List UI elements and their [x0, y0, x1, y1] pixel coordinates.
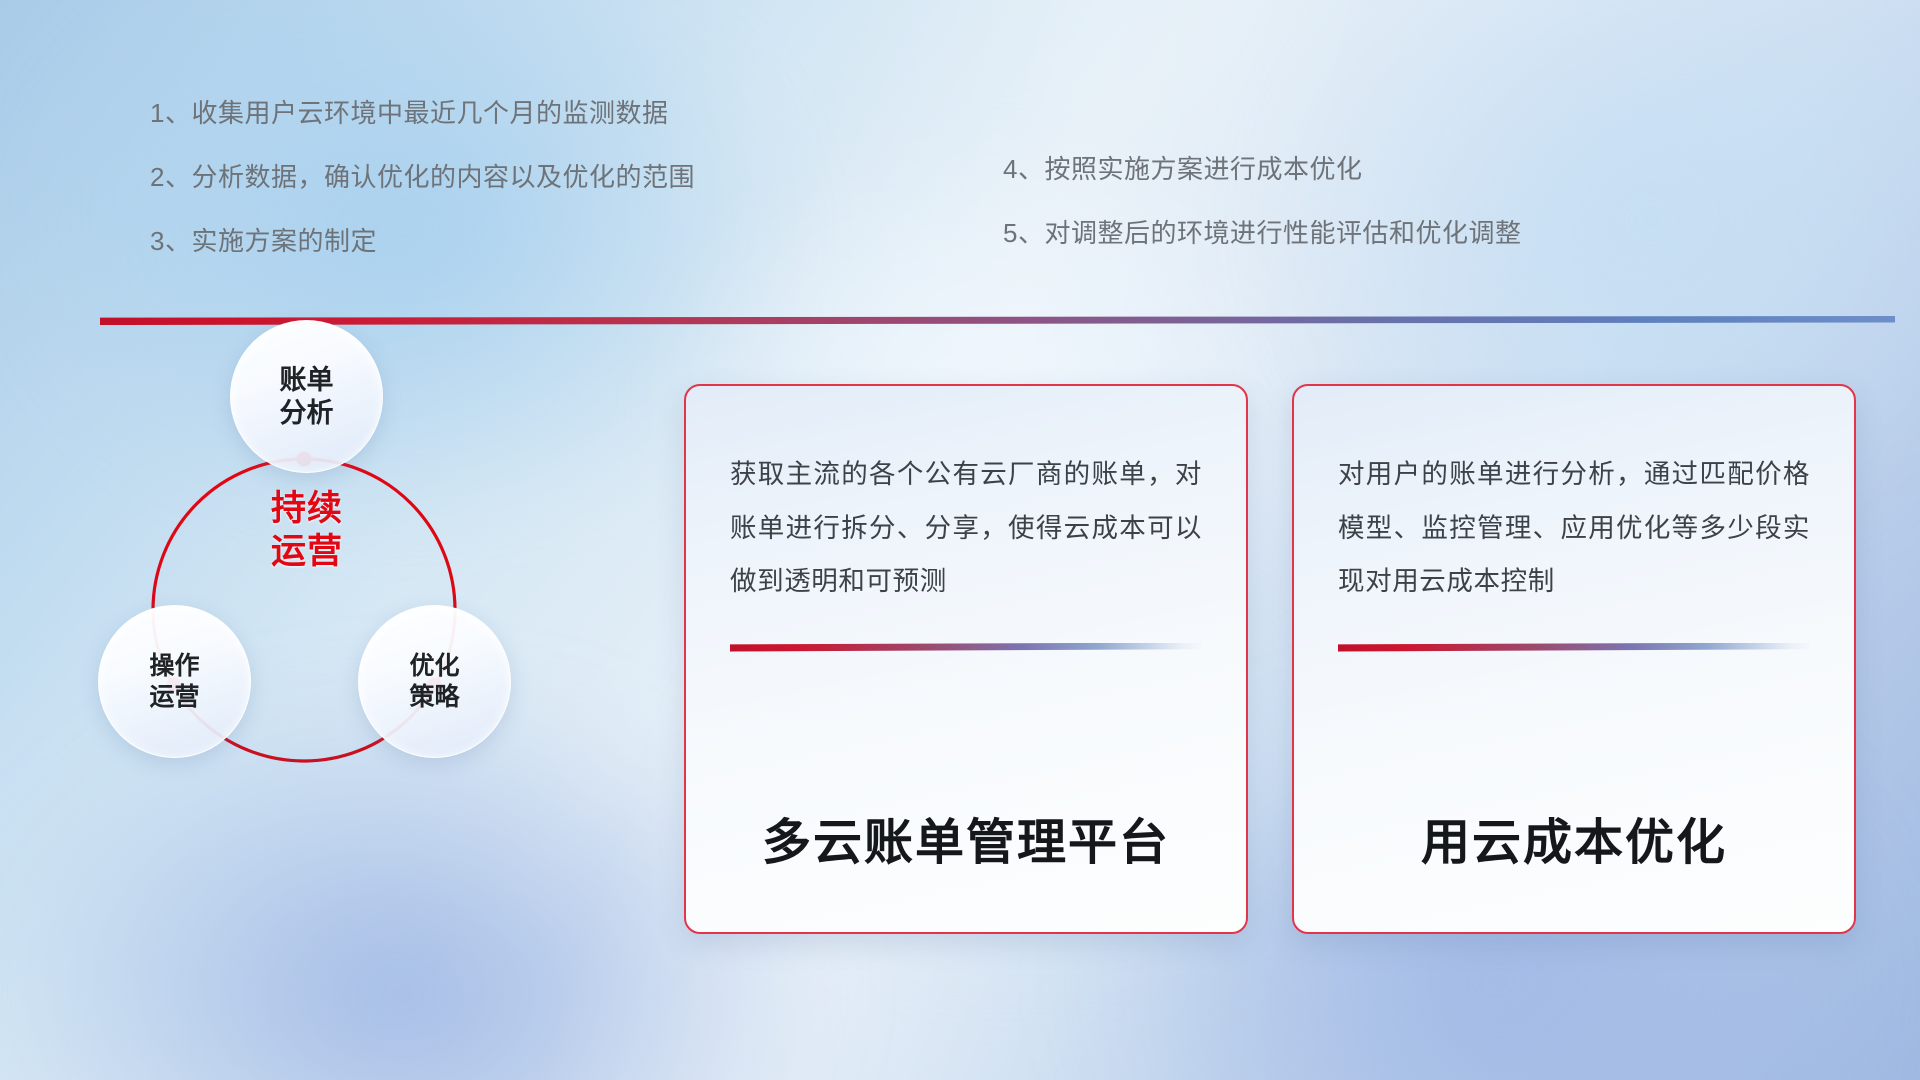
bubble-label: 操作 运营: [149, 651, 199, 712]
center-label-line1: 持续: [271, 489, 343, 528]
card-body-text: 获取主流的各个公有云厂商的账单，对账单进行拆分、分享，使得云成本可以做到透明和可…: [730, 448, 1202, 609]
bubble-label: 优化 策略: [409, 651, 459, 712]
steps-left-column: 1、收集用户云环境中最近几个月的监测数据 2、分析数据，确认优化的内容以及优化的…: [150, 100, 695, 254]
card-divider-bar: [1338, 643, 1810, 652]
bubble-label-line2: 运营: [149, 683, 199, 711]
bubble-bill-analysis[interactable]: 账单 分析: [230, 320, 383, 473]
steps-right-column: 4、按照实施方案进行成本优化 5、对调整后的环境进行性能评估和优化调整: [1003, 156, 1521, 246]
bubble-label-line1: 优化: [409, 652, 459, 680]
card-divider-bar: [730, 643, 1202, 652]
card-divider: [1338, 643, 1810, 652]
bubble-label-line1: 操作: [149, 652, 199, 680]
bubble-label-line2: 策略: [409, 683, 459, 711]
bubble-label: 账单 分析: [280, 364, 334, 430]
card-title: 用云成本优化: [1338, 803, 1810, 874]
card-divider: [730, 643, 1202, 652]
header-divider-rule: [100, 316, 1895, 325]
card-multi-cloud-billing-platform[interactable]: 获取主流的各个公有云厂商的账单，对账单进行拆分、分享，使得云成本可以做到透明和可…: [684, 384, 1248, 934]
card-title: 多云账单管理平台: [730, 803, 1202, 874]
card-body-text: 对用户的账单进行分析，通过匹配价格模型、监控管理、应用优化等多少段实现对用云成本…: [1338, 448, 1810, 609]
step-item-2: 2、分析数据，确认优化的内容以及优化的范围: [150, 164, 695, 190]
bubble-operations[interactable]: 操作 运营: [98, 605, 251, 758]
step-item-4: 4、按照实施方案进行成本优化: [1003, 156, 1521, 182]
diagram-center-label: 持续 运营: [242, 488, 372, 573]
step-item-3: 3、实施方案的制定: [150, 228, 695, 254]
step-item-5: 5、对调整后的环境进行性能评估和优化调整: [1003, 220, 1521, 246]
step-item-1: 1、收集用户云环境中最近几个月的监测数据: [150, 100, 695, 126]
center-label-line2: 运营: [271, 532, 343, 571]
bubble-optimization-strategy[interactable]: 优化 策略: [358, 605, 511, 758]
header-divider-bar: [100, 316, 1895, 325]
bubble-label-line2: 分析: [280, 398, 334, 428]
bubble-label-line1: 账单: [280, 365, 334, 395]
slide-canvas: 1、收集用户云环境中最近几个月的监测数据 2、分析数据，确认优化的内容以及优化的…: [0, 0, 1920, 1080]
continuous-operations-diagram: 账单 分析 操作 运营 优化 策略 持续 运营: [90, 340, 560, 940]
card-cloud-cost-optimization[interactable]: 对用户的账单进行分析，通过匹配价格模型、监控管理、应用优化等多少段实现对用云成本…: [1292, 384, 1856, 934]
